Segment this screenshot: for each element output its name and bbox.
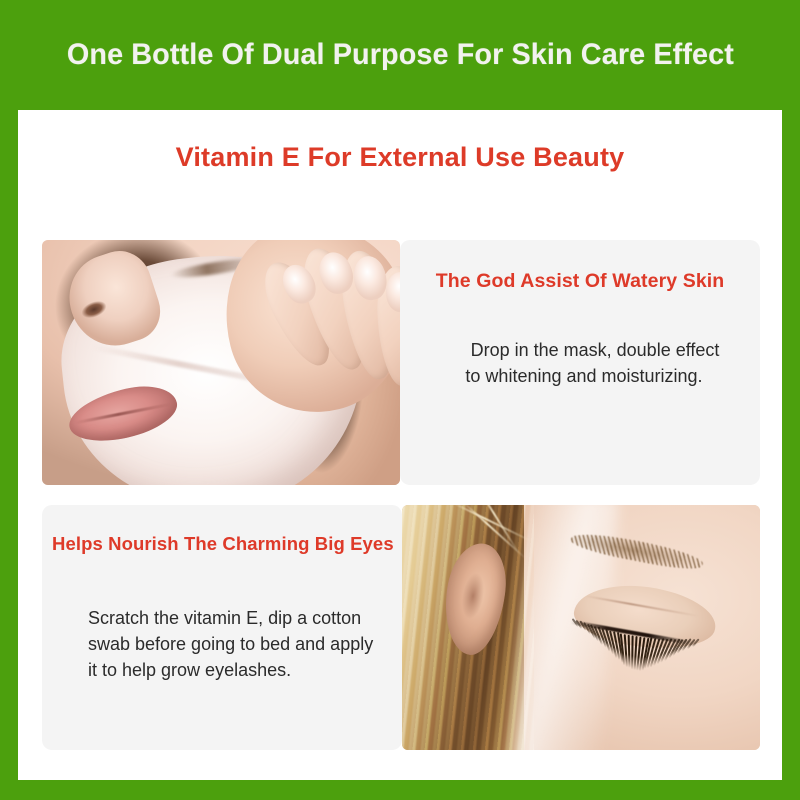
feature-block-mask: The God Assist Of Watery Skin Drop in th… bbox=[42, 240, 760, 485]
body-line: Scratch the vitamin E, dip a cotton bbox=[62, 605, 388, 631]
card-subtitle: Vitamin E For External Use Beauty bbox=[176, 142, 625, 172]
feature-heading-eyes: Helps Nourish The Charming Big Eyes bbox=[52, 533, 390, 555]
poster-banner: One Bottle Of Dual Purpose For Skin Care… bbox=[0, 0, 800, 110]
feature-block-eyes: Helps Nourish The Charming Big Eyes Scra… bbox=[42, 505, 760, 750]
feature-heading-mask: The God Assist Of Watery Skin bbox=[414, 270, 746, 293]
woman-sheet-mask-photo bbox=[42, 240, 400, 485]
banner-title: One Bottle Of Dual Purpose For Skin Care… bbox=[66, 38, 733, 72]
eyelash bbox=[628, 635, 630, 668]
content-card: Vitamin E For External Use Beauty bbox=[18, 110, 782, 780]
feature-text-panel-mask: The God Assist Of Watery Skin Drop in th… bbox=[400, 240, 760, 485]
product-poster: One Bottle Of Dual Purpose For Skin Care… bbox=[0, 0, 800, 800]
woman-closed-eye-lashes-photo bbox=[402, 505, 760, 750]
feature-text-panel-eyes: Helps Nourish The Charming Big Eyes Scra… bbox=[42, 505, 402, 750]
subtitle-row: Vitamin E For External Use Beauty bbox=[18, 142, 782, 173]
feature-body-eyes: Scratch the vitamin E, dip a cotton swab… bbox=[52, 605, 390, 683]
body-line: it to help grow eyelashes. bbox=[62, 657, 388, 683]
body-line: to whitening and moisturizing. bbox=[426, 363, 742, 389]
feature-body-mask: Drop in the mask, double effect to white… bbox=[414, 337, 746, 389]
eyelash bbox=[631, 635, 633, 669]
body-line: swab before going to bed and apply bbox=[62, 631, 388, 657]
body-line: Drop in the mask, double effect bbox=[426, 337, 742, 363]
